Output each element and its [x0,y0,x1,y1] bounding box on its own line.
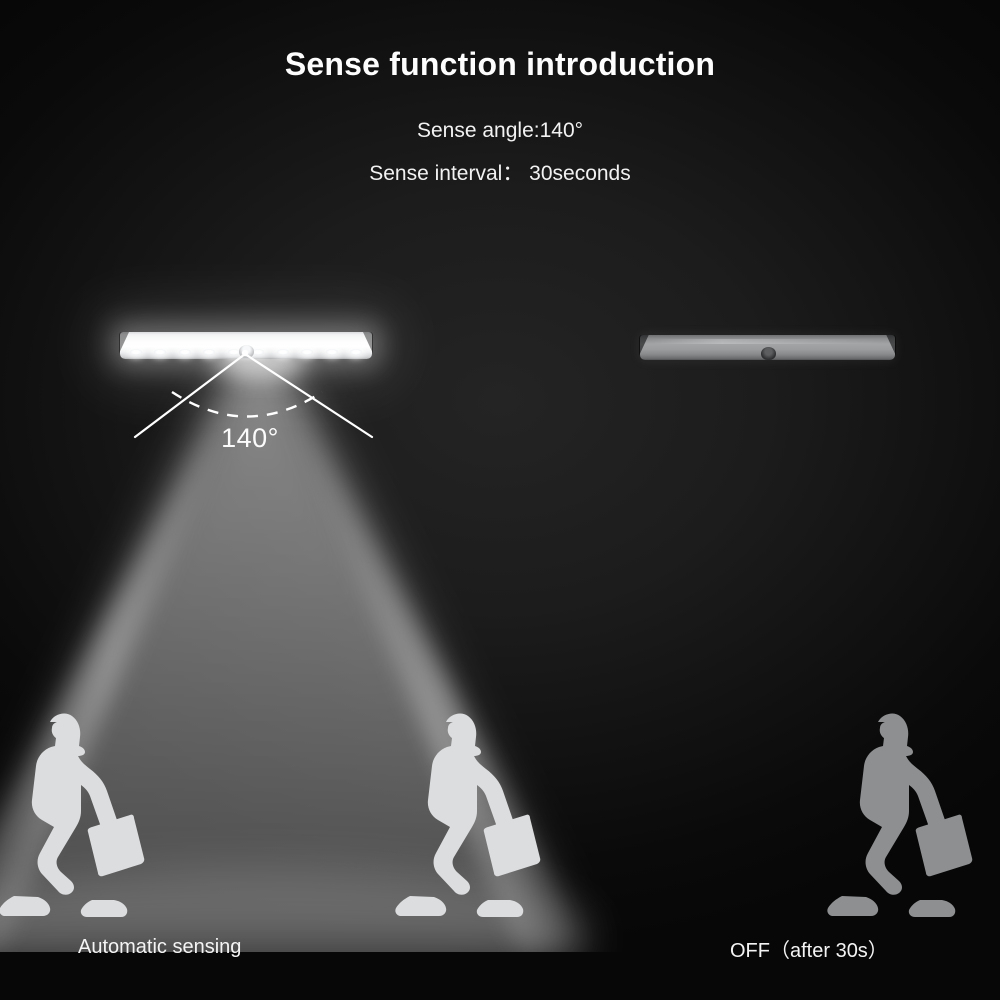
lamp-sheen [652,339,883,344]
walking-person-silhouette-lit [392,700,552,922]
sense-function-infographic: Sense function introduction Sense angle:… [0,0,1000,1000]
caption-automatic-sensing: Automatic sensing [78,936,241,959]
walking-person-silhouette-lit [0,700,156,922]
page-title: Sense function introduction [0,46,1000,83]
spec-sense-interval: Sense interval： 30seconds [0,157,1000,187]
motion-sensor-dome-icon [761,347,776,360]
spec-sense-angle: Sense angle:140° [0,119,1000,143]
led-light-bar-off[interactable] [640,335,895,360]
caption-off-after-30s: OFF（after 30s） [730,934,888,963]
angle-value-label: 140° [185,423,315,454]
walking-person-silhouette-unlit [824,700,984,922]
